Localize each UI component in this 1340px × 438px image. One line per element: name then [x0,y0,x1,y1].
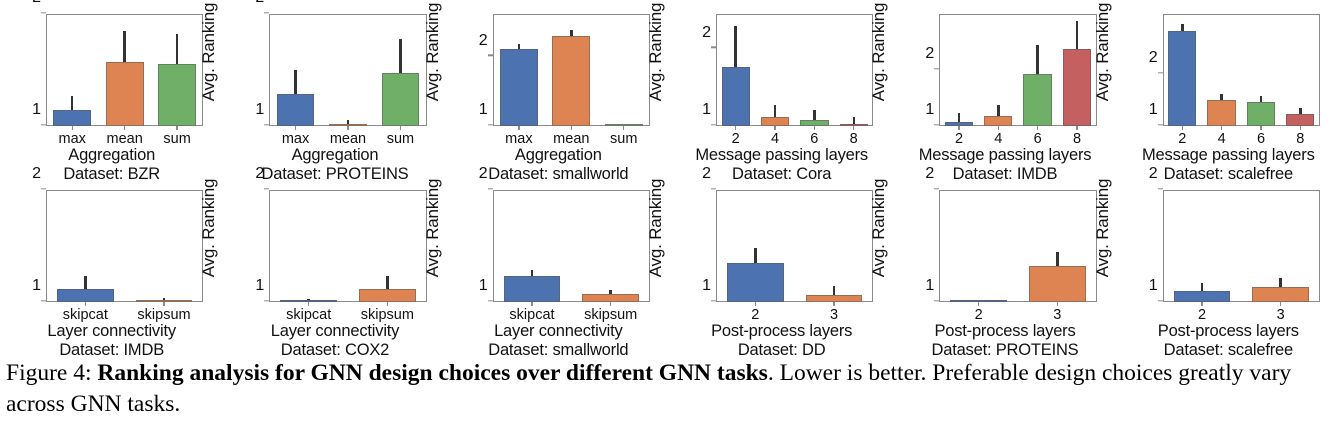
bar-slot [322,14,374,126]
x-tick-row: maxmeansum [493,126,650,147]
bar [727,263,784,302]
bar [1168,31,1196,126]
plot-area: 1223 [716,190,873,302]
x-tick-mark [774,126,775,130]
chart-panel-7: Avg. Ranking12skipcatskipsumLayer connec… [0,176,223,352]
bar-slot [716,14,755,126]
bar-slot [795,14,834,126]
x-tick-label: sum [598,126,650,147]
x-tick-mark [623,126,624,130]
y-tick-label: 2 [702,166,711,182]
bar [1252,287,1309,302]
x-tick-mark [1280,302,1281,306]
y-axis-label: Avg. Ranking [871,0,887,104]
bar-series [716,190,873,302]
figure-4: Avg. Ranking12maxmeansumAggregationDatas… [0,0,1340,438]
bar-slot [834,14,873,126]
bar-series [1163,14,1320,126]
caption-bold: Ranking analysis for GNN design choices … [97,360,767,386]
x-tick-label: skipsum [348,302,427,323]
x-tick-row: skipcatskipsum [493,302,650,323]
bar-series [46,14,203,126]
bar [277,94,315,126]
x-tick-label: 2 [1163,302,1242,323]
chart-panel-9: Avg. Ranking12skipcatskipsumLayer connec… [447,176,670,352]
y-tick-label: 2 [1149,166,1158,182]
bar-series [269,14,426,126]
bar-slot [46,190,125,302]
x-tick-label: mean [545,126,597,147]
plot-area: 12maxmeansum [46,14,203,126]
chart-panel-11: Avg. Ranking1223Post-process layersDatas… [893,176,1116,352]
chart-panel-5: Avg. Ranking122468Message passing layers… [893,0,1116,176]
plot-area: 12skipcatskipsum [46,190,203,302]
x-tick-label: skipsum [125,302,204,323]
x-axis-label: Layer connectivity [0,322,223,341]
y-tick-label: 2 [32,0,41,6]
bar [1029,266,1086,302]
bar-slot [151,14,203,126]
x-tick-mark [1076,126,1077,130]
y-tick-label: 1 [925,278,934,294]
x-tick-label: max [269,126,321,147]
x-tick-mark [1260,126,1261,130]
y-tick-label: 1 [255,278,264,294]
plot-area: 1223 [1163,190,1320,302]
y-axis-label: Avg. Ranking [1095,176,1111,280]
bar-slot [1163,14,1202,126]
bar-slot [795,190,874,302]
x-tick-mark [814,126,815,130]
y-tick-label: 1 [1149,278,1158,294]
bar [552,36,590,126]
bar-slot [1057,14,1096,126]
y-tick-label: 2 [479,166,488,182]
x-axis-label: Post-process layers [893,322,1116,341]
y-axis-label: Avg. Ranking [201,176,217,280]
x-tick-mark [72,126,73,130]
bar [359,289,416,302]
x-tick-row: maxmeansum [269,126,426,147]
x-tick-label: 3 [795,302,874,323]
x-tick-row: skipcatskipsum [269,302,426,323]
bar-slot [1281,14,1320,126]
x-axis-label: Post-process layers [1117,322,1340,341]
bar-slot [755,14,794,126]
bar-slot [1202,14,1241,126]
plot-area: 12skipcatskipsum [493,190,650,302]
bar-slot [374,14,426,126]
x-tick-label: skipcat [493,302,572,323]
x-tick-mark [1037,126,1038,130]
bar-slot [98,14,150,126]
y-axis-label: Avg. Ranking [871,176,887,280]
y-tick-label: 2 [1149,50,1158,66]
bar-series [939,14,1096,126]
bar [1247,102,1275,126]
x-tick-row: 23 [716,302,873,323]
x-tick-row: 2468 [939,126,1096,147]
bar-slot [598,14,650,126]
x-axis-label: Post-process layers [670,322,893,341]
bar-slot [46,14,98,126]
y-tick-label: 1 [702,102,711,118]
x-tick-label: 4 [1202,126,1241,147]
x-tick-label: 2 [939,302,1018,323]
x-tick-mark [978,302,979,306]
x-tick-label: 4 [755,126,794,147]
x-tick-label: mean [322,126,374,147]
bar [1063,49,1091,126]
y-tick-label: 2 [255,0,264,6]
bar [582,294,639,302]
bar-series [269,190,426,302]
x-tick-label: 3 [1018,302,1097,323]
x-axis-label: Aggregation [223,146,446,165]
chart-panel-10: Avg. Ranking1223Post-process layersDatas… [670,176,893,352]
x-tick-label: 6 [1018,126,1057,147]
bar-series [493,190,650,302]
x-tick-label: sum [151,126,203,147]
bar [984,116,1012,126]
bar [382,73,420,126]
bar-slot [716,190,795,302]
y-axis-label: Avg. Ranking [648,0,664,104]
x-tick-mark [531,302,532,306]
x-tick-label: 6 [1241,126,1280,147]
plot-area: 1223 [939,190,1096,302]
x-tick-mark [755,302,756,306]
bar-series [1163,190,1320,302]
x-tick-mark [124,126,125,130]
bar [504,276,561,302]
chart-panel-1: Avg. Ranking12maxmeansumAggregationDatas… [0,0,223,176]
x-tick-label: 8 [1281,126,1320,147]
x-tick-mark [176,126,177,130]
bar-series [493,14,650,126]
bar [806,295,863,302]
bar [1174,291,1231,302]
x-tick-mark [610,302,611,306]
x-tick-label: 8 [1057,126,1096,147]
bar-series [716,14,873,126]
x-tick-mark [518,126,519,130]
x-tick-label: 2 [1163,126,1202,147]
y-tick-label: 2 [925,166,934,182]
y-axis-label: Avg. Ranking [425,176,441,280]
x-tick-mark [958,126,959,130]
chart-panel-4: Avg. Ranking122468Message passing layers… [670,0,893,176]
y-tick-label: 2 [479,33,488,49]
x-tick-row: 2468 [1163,126,1320,147]
x-tick-mark [1221,126,1222,130]
x-tick-label: 2 [939,126,978,147]
x-tick-row: maxmeansum [46,126,203,147]
chart-panel-6: Avg. Ranking122468Message passing layers… [1117,0,1340,176]
x-tick-mark [1057,302,1058,306]
caption-prefix: Figure 4: [6,360,97,386]
x-tick-label: 4 [979,126,1018,147]
x-tick-label: mean [98,126,150,147]
bar-slot [545,14,597,126]
bar-slot [939,14,978,126]
bar [1207,100,1235,126]
x-tick-mark [387,302,388,306]
chart-panel-3: Avg. Ranking12maxmeansumAggregationDatas… [447,0,670,176]
x-tick-mark [1182,126,1183,130]
x-tick-row: 23 [1163,302,1320,323]
chart-panel-8: Avg. Ranking12skipcatskipsumLayer connec… [223,176,446,352]
bar-slot [1241,14,1280,126]
x-tick-row: skipcatskipsum [46,302,203,323]
x-axis-label: Layer connectivity [447,322,670,341]
x-tick-label: sum [374,126,426,147]
x-tick-label: max [46,126,98,147]
figure-caption: Figure 4: Ranking analysis for GNN desig… [6,358,1336,420]
plot-area: 122468 [716,14,873,126]
bar-slot [979,14,1018,126]
x-tick-mark [163,302,164,306]
y-axis-label: Avg. Ranking [1095,0,1111,104]
bar-slot [1163,190,1242,302]
x-tick-row: 2468 [716,126,873,147]
x-tick-label: 3 [1241,302,1320,323]
x-tick-label: 6 [795,126,834,147]
y-tick-label: 1 [255,102,264,118]
bar [722,67,750,126]
y-axis-label: Avg. Ranking [425,0,441,104]
x-axis-label: Aggregation [0,146,223,165]
plot-area: 12skipcatskipsum [269,190,426,302]
x-tick-mark [308,302,309,306]
bar [53,110,91,126]
bar [106,62,144,126]
y-tick-label: 2 [925,46,934,62]
y-tick-label: 2 [702,25,711,41]
plot-area: 122468 [1163,14,1320,126]
bar-slot [1018,14,1057,126]
x-axis-label: Message passing layers [1117,146,1340,165]
bar-slot [125,190,204,302]
y-tick-label: 1 [479,278,488,294]
y-axis-label: Avg. Ranking [648,176,664,280]
y-tick-label: 1 [702,278,711,294]
x-axis-label: Layer connectivity [223,322,446,341]
bar-slot [1241,190,1320,302]
bar-slot [493,190,572,302]
bar-slot [269,190,348,302]
x-tick-mark [85,302,86,306]
x-tick-mark [1201,302,1202,306]
x-tick-mark [1300,126,1301,130]
y-tick-label: 2 [255,166,264,182]
bar-slot [348,190,427,302]
x-tick-label: skipsum [571,302,650,323]
bar-slot [939,190,1018,302]
x-tick-mark [853,126,854,130]
x-axis-label: Message passing layers [670,146,893,165]
plot-area: 122468 [939,14,1096,126]
bar [1023,74,1051,126]
y-tick-label: 1 [32,102,41,118]
bar-slot [1018,190,1097,302]
chart-panel-2: Avg. Ranking12maxmeansumAggregationDatas… [223,0,446,176]
y-tick-label: 1 [1149,102,1158,118]
bar-series [939,190,1096,302]
bar-slot [269,14,321,126]
plot-area: 12maxmeansum [269,14,426,126]
x-tick-label: 8 [834,126,873,147]
bar [500,49,538,126]
x-tick-mark [833,302,834,306]
bar-slot [571,190,650,302]
bar [761,117,789,126]
x-tick-label: 2 [716,126,755,147]
x-tick-mark [347,126,348,130]
x-tick-label: 2 [716,302,795,323]
bar [1286,114,1314,127]
x-tick-label: max [493,126,545,147]
bar [57,289,114,302]
y-axis-label: Avg. Ranking [201,0,217,104]
bar-slot [493,14,545,126]
chart-panel-12: Avg. Ranking1223Post-process layersDatas… [1117,176,1340,352]
plot-area: 12maxmeansum [493,14,650,126]
x-tick-mark [735,126,736,130]
x-tick-mark [295,126,296,130]
x-tick-mark [400,126,401,130]
x-tick-label: skipcat [46,302,125,323]
bar-series [46,190,203,302]
x-axis-label: Aggregation [447,146,670,165]
x-tick-mark [998,126,999,130]
x-tick-label: skipcat [269,302,348,323]
y-tick-label: 1 [479,102,488,118]
y-tick-label: 1 [925,102,934,118]
panel-grid: Avg. Ranking12maxmeansumAggregationDatas… [0,0,1340,352]
bar [158,64,196,126]
y-tick-label: 2 [32,166,41,182]
y-tick-label: 1 [32,278,41,294]
x-tick-row: 23 [939,302,1096,323]
x-tick-mark [571,126,572,130]
x-axis-label: Message passing layers [893,146,1116,165]
